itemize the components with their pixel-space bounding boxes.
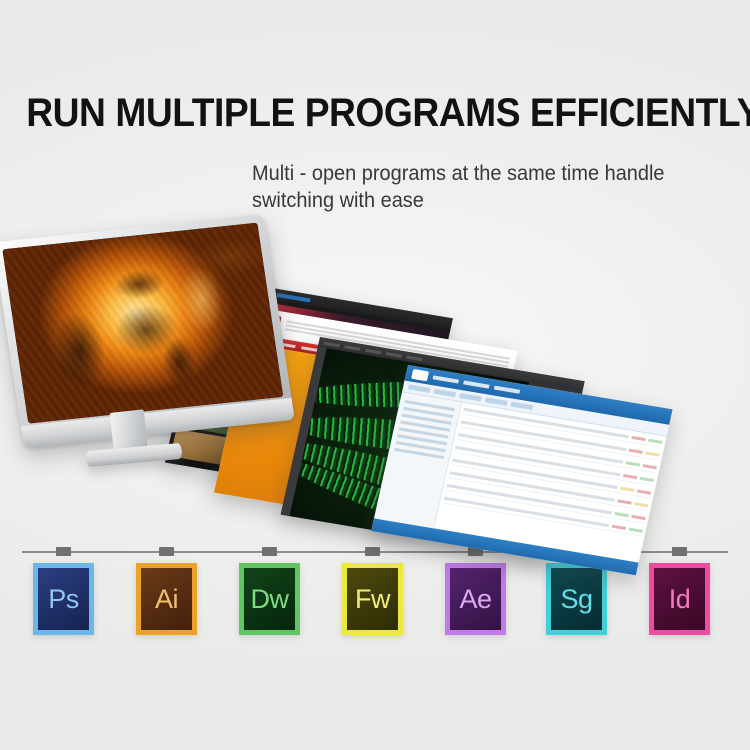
monitor-bezel (0, 214, 295, 448)
app-icon-label: Sg (560, 584, 592, 615)
timeline-tick (672, 547, 687, 556)
promo-page: RUN MULTIPLE PROGRAMS EFFICIENTLY Multi … (0, 0, 750, 750)
scout-icon[interactable]: Sg (546, 563, 607, 635)
fireworks-icon[interactable]: Fw (342, 563, 403, 635)
dreamweaver-icon[interactable]: Dw (239, 563, 300, 635)
indesign-icon[interactable]: Id (649, 563, 710, 635)
timeline-tick (365, 547, 380, 556)
toolbar-segment-highlight (276, 292, 310, 302)
desktop-monitor (0, 214, 295, 448)
timeline-tick (159, 547, 174, 556)
app-icon-label: Ps (48, 584, 79, 615)
game-character-figure (92, 266, 201, 391)
hero-illustration (0, 215, 750, 535)
page-title: RUN MULTIPLE PROGRAMS EFFICIENTLY (26, 93, 724, 133)
photoshop-icon[interactable]: Ps (33, 563, 94, 635)
illustrator-icon[interactable]: Ai (136, 563, 197, 635)
monitor-screen (2, 223, 283, 424)
app-icon-label: Id (669, 584, 691, 615)
aftereffects-icon[interactable]: Ae (445, 563, 506, 635)
timeline-tick (262, 547, 277, 556)
app-icon-label: Fw (355, 584, 390, 615)
game-artwork (2, 223, 283, 424)
timeline-tick (56, 547, 71, 556)
app-icon-label: Ae (459, 584, 491, 615)
page-subtitle: Multi - open programs at the same time h… (252, 161, 708, 215)
app-icon-row: PsAiDwFwAeSgId (0, 563, 750, 645)
app-icon-label: Ai (155, 584, 178, 615)
mail-logo-icon (411, 369, 429, 381)
mail-table-window (371, 365, 672, 575)
monitor-stand-base (85, 443, 182, 467)
app-icon-label: Dw (251, 584, 289, 615)
